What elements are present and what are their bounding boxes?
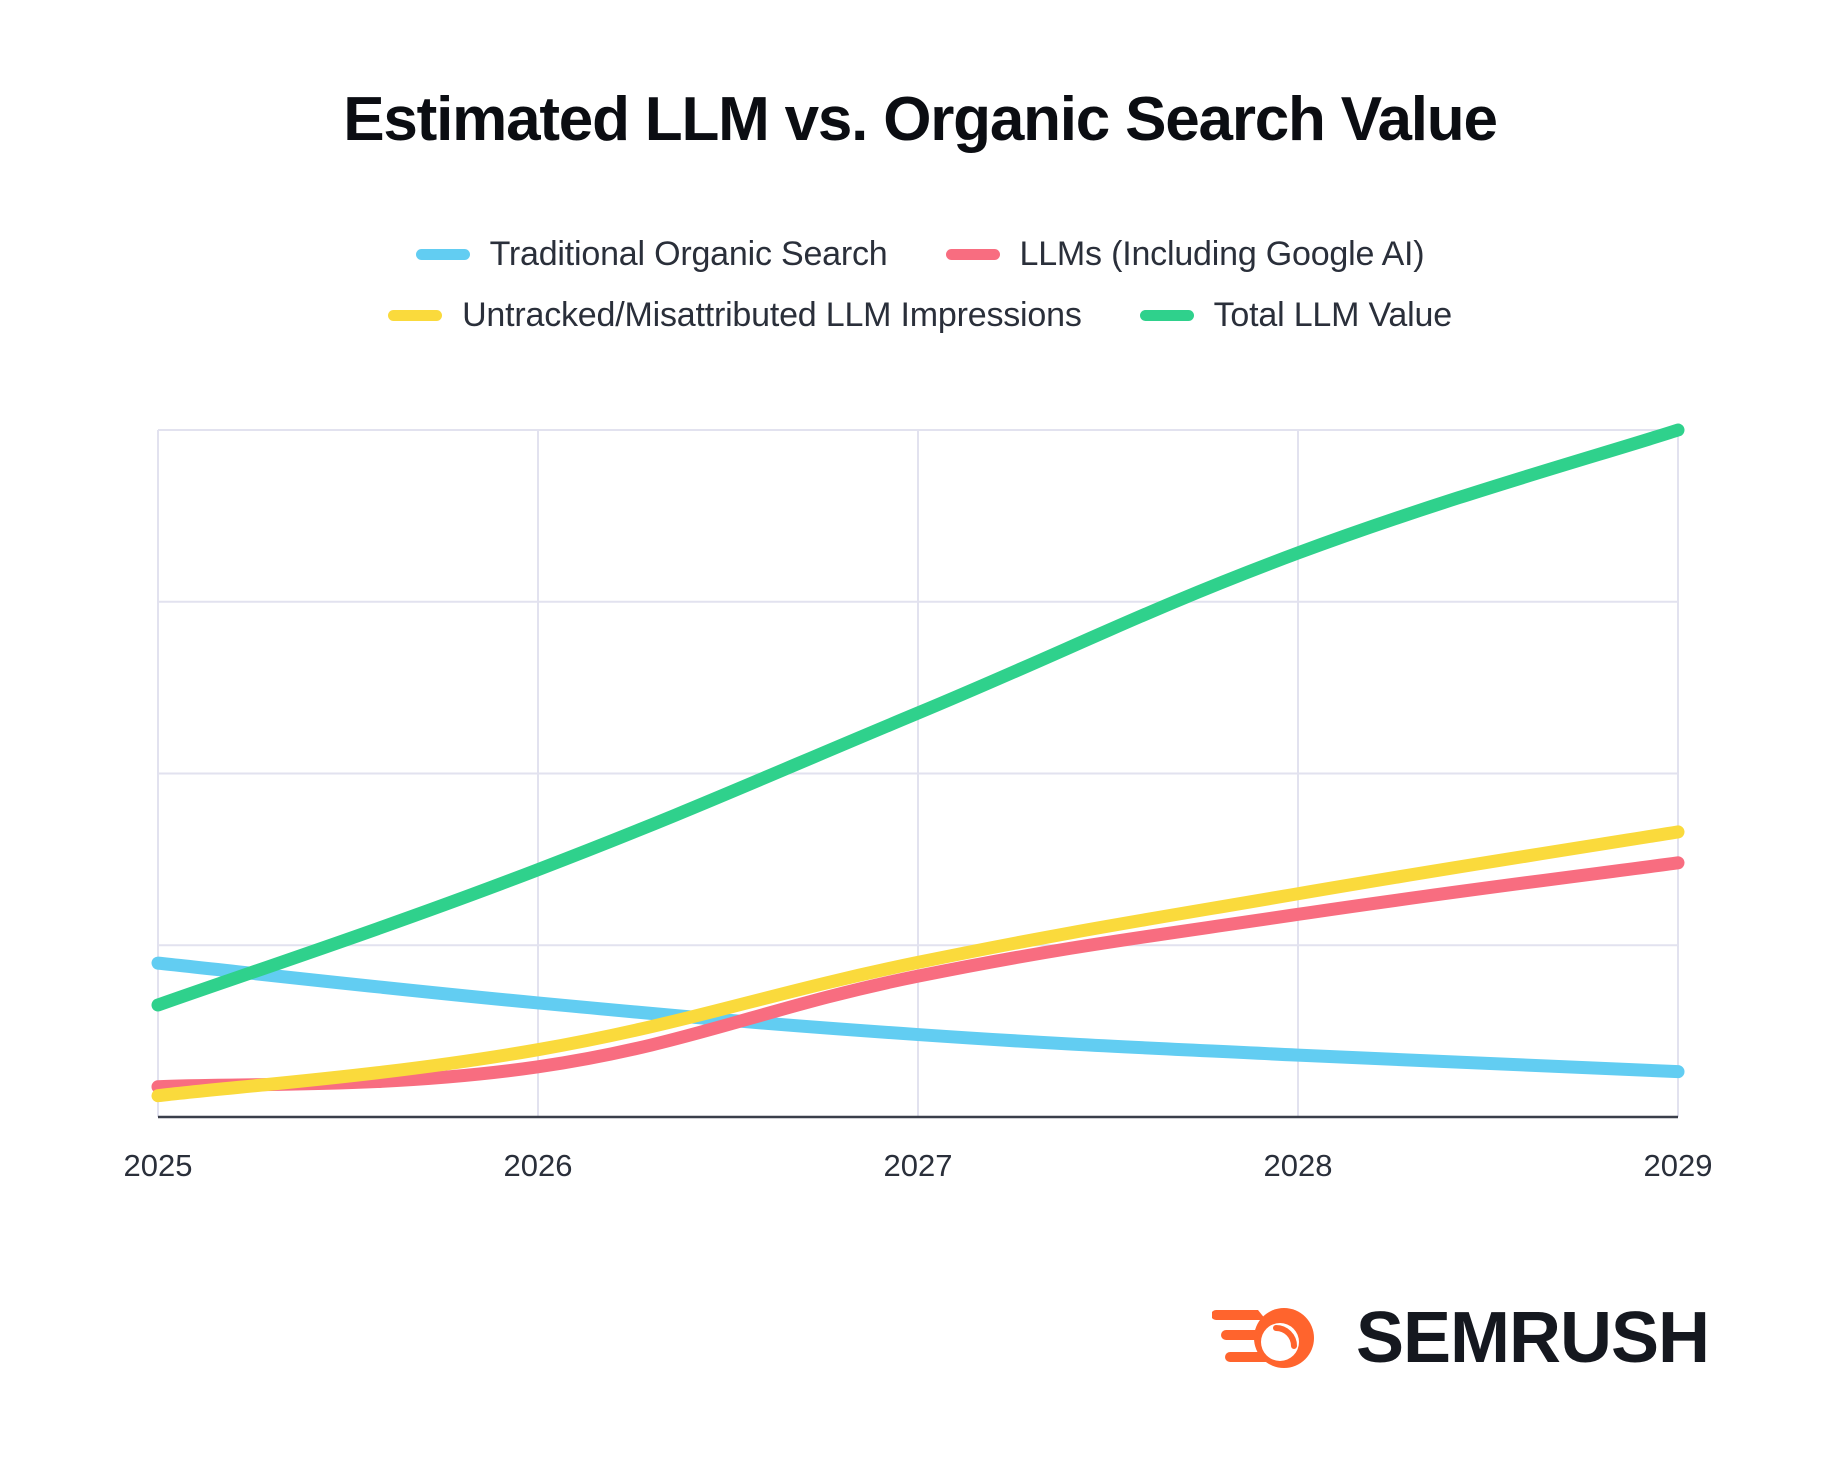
legend-item-total-llm-value[interactable]: Total LLM Value — [1140, 296, 1452, 335]
legend-label: LLMs (Including Google AI) — [1020, 235, 1425, 274]
page-title: Estimated LLM vs. Organic Search Value — [0, 84, 1840, 155]
x-tick-label-2025: 2025 — [124, 1148, 193, 1184]
semrush-comet-icon — [1212, 1296, 1330, 1380]
line-chart-svg — [158, 430, 1678, 1117]
x-axis-labels: 20252026202720282029 — [0, 1148, 1840, 1198]
legend-label: Total LLM Value — [1214, 296, 1452, 335]
chart-plot-area — [158, 430, 1678, 1117]
gridlines — [158, 430, 1678, 1117]
x-tick-label-2026: 2026 — [504, 1148, 573, 1184]
legend-label: Traditional Organic Search — [490, 235, 888, 274]
legend-row-2: Untracked/Misattributed LLM Impressions … — [388, 296, 1452, 335]
chart-legend: Traditional Organic Search LLMs (Includi… — [0, 235, 1840, 335]
x-tick-label-2029: 2029 — [1644, 1148, 1713, 1184]
comet-tail-bottom — [1225, 1352, 1268, 1362]
brand-logo: SEMRUSH — [1212, 1296, 1709, 1380]
legend-item-untracked-misattributed-llm-impressions[interactable]: Untracked/Misattributed LLM Impressions — [388, 296, 1082, 335]
comet-tail-mid — [1221, 1330, 1258, 1340]
legend-swatch-line-icon — [416, 249, 470, 260]
legend-row-1: Traditional Organic Search LLMs (Includi… — [416, 235, 1425, 274]
legend-item-llms-including-google-ai[interactable]: LLMs (Including Google AI) — [946, 235, 1425, 274]
x-tick-label-2027: 2027 — [884, 1148, 953, 1184]
legend-label: Untracked/Misattributed LLM Impressions — [462, 296, 1082, 335]
legend-swatch-line-icon — [1140, 310, 1194, 321]
brand-name: SEMRUSH — [1356, 1302, 1709, 1374]
legend-swatch-line-icon — [946, 249, 1000, 260]
legend-item-traditional-organic-search[interactable]: Traditional Organic Search — [416, 235, 888, 274]
legend-swatch-line-icon — [388, 310, 442, 321]
comet-tail-top — [1212, 1310, 1266, 1320]
x-tick-label-2028: 2028 — [1264, 1148, 1333, 1184]
